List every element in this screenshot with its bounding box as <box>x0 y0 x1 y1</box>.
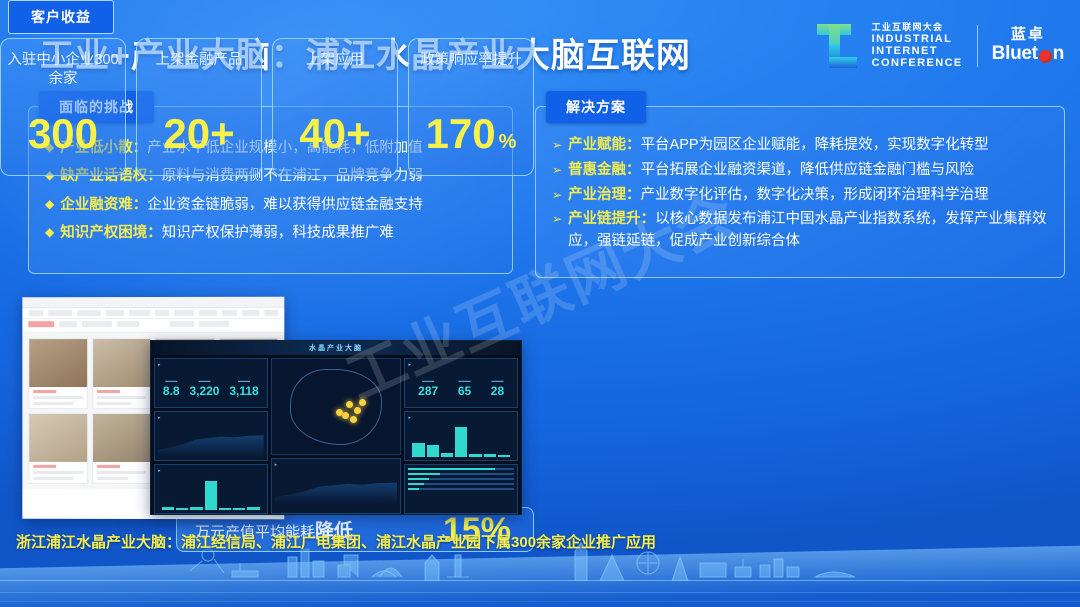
solution-item: ➢产业链提升：以核心数据发布浦江中国水晶产业指数系统，发挥产业集群效应，强链延链… <box>552 209 1048 253</box>
dashboard-kpi: ▬▬▬3,220 <box>189 378 219 397</box>
dashboard-kpi: ▬▬▬287 <box>418 378 438 397</box>
ranking-row <box>408 473 514 475</box>
bluetron-en-post: n <box>1053 44 1064 65</box>
panel-caption: ▸ <box>158 468 264 474</box>
bluetron-red-dot-icon <box>1039 50 1052 63</box>
challenge-item-text: 企业融资难：企业资金链脆弱，难以获得供应链金融支持 <box>60 194 423 216</box>
ranking-row <box>408 478 514 480</box>
panel-caption: ▸ <box>408 415 514 421</box>
benefit-stat-value: 40+ <box>299 113 370 155</box>
solution-item: ➢产业赋能：平台APP为园区企业赋能，降耗提效，实现数字化转型 <box>552 135 1048 157</box>
benefit-stat-card: 上架金融产品20+ <box>136 38 262 176</box>
benefit-stat-value: 20+ <box>163 113 234 155</box>
solutions-list: ➢产业赋能：平台APP为园区企业赋能，降耗提效，实现数字化转型➢普惠金融：平台拓… <box>536 107 1064 266</box>
dashboard-kpi-value: 287 <box>418 385 438 397</box>
dashboard-kpi-caption: ▬▬▬ <box>229 378 258 383</box>
solution-item-key: 产业治理： <box>568 187 641 203</box>
bar-chart <box>158 476 264 510</box>
conference-name-cn: 工业互联网大会 <box>872 22 963 32</box>
dashboard-title: 水晶产业大脑 <box>309 343 363 353</box>
solution-item-desc: 平台拓展企业融资渠道，降低供应链金融门槛与风险 <box>641 162 975 178</box>
dashboard-ranking-panel <box>404 464 518 514</box>
dashboard-header: 水晶产业大脑 <box>151 341 521 355</box>
list-item <box>28 338 87 409</box>
benefit-stat-number: 20+ <box>163 113 234 155</box>
panel-caption: ▸ <box>158 362 264 368</box>
dashboard-kpi-caption: ▬▬▬ <box>458 378 471 383</box>
benefit-stat-label: 上架金融产品 <box>156 51 243 109</box>
bluetron-en-pre: Bluet <box>992 44 1038 65</box>
conference-name-en-3: CONFERENCE <box>872 57 963 69</box>
dashboard-body: ▸ ▬▬▬8.8▬▬▬3,220▬▬▬3,118 ▸ ▸ <box>151 355 521 515</box>
map-marker <box>354 407 361 414</box>
challenge-item-text: 知识产权困境：知识产权保护薄弱，科技成果推广难 <box>60 222 394 244</box>
conference-name-en-2: INTERNET <box>872 45 963 57</box>
benefit-stat-card: 政策响应率提升170% <box>408 38 534 176</box>
dashboard-left-column: ▸ ▬▬▬8.8▬▬▬3,220▬▬▬3,118 ▸ ▸ <box>154 358 268 514</box>
benefit-stat-label: 上架应用 <box>306 51 364 109</box>
product-thumbnail <box>93 414 150 462</box>
list-item <box>92 413 151 484</box>
dashboard-kpi-caption: ▬▬▬ <box>163 378 180 383</box>
mall-nav-bar <box>22 308 284 319</box>
logo-divider <box>977 25 978 67</box>
road-line <box>0 601 1080 602</box>
bullet-marker-icon: ➢ <box>552 135 562 156</box>
benefit-stat-number: 40+ <box>299 113 370 155</box>
solution-item-key: 产业赋能： <box>568 137 641 153</box>
solution-item: ➢普惠金融：平台拓展企业融资渠道，降低供应链金融门槛与风险 <box>552 160 1048 182</box>
dashboard-area-panel: ▸ <box>271 458 402 514</box>
solutions-panel: 解决方案 ➢产业赋能：平台APP为园区企业赋能，降耗提效，实现数字化转型➢普惠金… <box>535 106 1065 278</box>
bullet-marker-icon: ◆ <box>45 222 54 243</box>
benefits-stat-row: 入驻中小企业300余家300上架金融产品20+上架应用40+政策响应率提升170… <box>0 38 534 176</box>
mall-breadcrumb-bar <box>22 297 284 309</box>
bullet-marker-icon: ➢ <box>552 160 562 181</box>
dashboard-kpi-value: 28 <box>491 385 504 397</box>
dashboard-kpi: ▬▬▬8.8 <box>163 378 180 397</box>
product-thumbnail <box>29 414 86 462</box>
mall-filter-bar <box>22 319 284 333</box>
benefit-stat-card: 上架应用40+ <box>272 38 398 176</box>
solutions-tab-label: 解决方案 <box>546 91 646 123</box>
solution-item-desc: 平台APP为园区企业赋能，降耗提效，实现数字化转型 <box>641 137 989 153</box>
bluetron-name-en: Bluetn <box>992 44 1064 65</box>
ranking-row <box>408 483 514 485</box>
dashboard-kpi-value: 3,220 <box>189 385 219 397</box>
map-marker <box>336 409 343 416</box>
bar-chart <box>408 423 514 457</box>
dashboard-kpi-value: 8.8 <box>163 385 180 397</box>
solution-item-text: 产业治理：产业数字化评估，数字化决策，形成闭环治理科学治理 <box>568 185 989 207</box>
dashboard-kpi-value: 65 <box>458 385 471 397</box>
dashboard-bar-panel: ▸ <box>154 464 268 514</box>
dashboard-kpi: ▬▬▬3,118 <box>229 378 258 397</box>
solution-item-key: 产业链提升： <box>568 211 655 227</box>
dashboard-right-column: ▸ ▬▬▬287▬▬▬65▬▬▬28 ▸ <box>404 358 518 514</box>
dashboard-kpi-panel-right: ▸ ▬▬▬287▬▬▬65▬▬▬28 <box>404 358 518 408</box>
kpi-group-left: ▬▬▬8.8▬▬▬3,220▬▬▬3,118 <box>158 370 264 404</box>
challenge-item-desc: 知识产权保护薄弱，科技成果推广难 <box>162 225 394 241</box>
benefit-stat-number: 170 <box>426 113 496 155</box>
benefit-stat-label: 入驻中小企业300余家 <box>7 51 119 109</box>
challenge-item-key: 知识产权困境： <box>60 225 162 241</box>
dashboard-kpi-value: 3,118 <box>229 385 258 397</box>
product-thumbnail <box>93 339 150 387</box>
bluetron-logo: 蓝卓 Bluetn <box>992 27 1064 64</box>
screenshot-caption: 浙江浦江水晶产业大脑：浦江经信局、浦江广电集团、浦江水晶产业园下属300余家企业… <box>16 531 656 552</box>
solution-item-text: 产业链提升：以核心数据发布浦江中国水晶产业指数系统，发挥产业集群效应，强链延链，… <box>568 209 1048 253</box>
conference-name-en-1: INDUSTRIAL <box>872 33 963 45</box>
dashboard-center-column: ▸ <box>271 358 402 514</box>
bullet-marker-icon: ➢ <box>552 185 562 206</box>
solution-item-desc: 产业数字化评估，数字化决策，形成闭环治理科学治理 <box>641 187 989 203</box>
benefit-stat-number: 300 <box>28 113 98 155</box>
dashboard-kpi: ▬▬▬65 <box>458 378 471 397</box>
area-chart <box>275 470 398 504</box>
challenge-item: ◆知识产权困境：知识产权保护薄弱，科技成果推广难 <box>45 222 496 244</box>
dashboard-trend-panel: ▸ <box>154 411 268 461</box>
dashboard-kpi-caption: ▬▬▬ <box>418 378 438 383</box>
road-line <box>0 592 1080 593</box>
list-item <box>92 338 151 409</box>
logo-group: 工业互联网大会 INDUSTRIAL INTERNET CONFERENCE 蓝… <box>817 22 1064 70</box>
solution-item: ➢产业治理：产业数字化评估，数字化决策，形成闭环治理科学治理 <box>552 185 1048 207</box>
panel-caption: ▸ <box>275 462 398 468</box>
product-thumbnail <box>29 339 86 387</box>
solution-item-key: 普惠金融： <box>568 162 641 178</box>
list-item <box>28 413 87 484</box>
benefits-tab-label: 客户收益 <box>8 0 114 34</box>
ranking-row <box>408 468 514 470</box>
benefit-stat-value: 300 <box>28 113 98 155</box>
ranking-row <box>408 488 514 490</box>
bullet-marker-icon: ➢ <box>552 209 562 230</box>
conference-logo: 工业互联网大会 INDUSTRIAL INTERNET CONFERENCE <box>817 22 963 70</box>
benefit-stat-card: 入驻中小企业300余家300 <box>0 38 126 176</box>
dashboard-bar-panel-right: ▸ <box>404 411 518 461</box>
challenge-item: ◆企业融资难：企业资金链脆弱，难以获得供应链金融支持 <box>45 194 496 216</box>
challenge-item-key: 企业融资难： <box>60 197 147 213</box>
t-shape-logo-icon <box>817 22 863 70</box>
bullet-marker-icon: ◆ <box>45 194 54 215</box>
benefit-stat-value: 170% <box>426 113 517 155</box>
solution-item-text: 普惠金融：平台拓展企业融资渠道，降低供应链金融门槛与风险 <box>568 160 974 182</box>
kpi-group-right: ▬▬▬287▬▬▬65▬▬▬28 <box>408 370 514 404</box>
benefit-stat-unit: % <box>499 132 517 152</box>
benefit-stat-label: 政策响应率提升 <box>420 51 522 109</box>
panel-caption: ▸ <box>158 415 264 421</box>
dashboard-kpi: ▬▬▬28 <box>491 378 504 397</box>
china-map-chart <box>271 358 402 455</box>
dashboard-kpi-caption: ▬▬▬ <box>189 378 219 383</box>
bluetron-name-cn: 蓝卓 <box>992 27 1064 44</box>
industry-brain-dashboard-screenshot: 水晶产业大脑 ▸ ▬▬▬8.8▬▬▬3,220▬▬▬3,118 ▸ ▸ <box>150 340 522 515</box>
challenge-item-desc: 企业资金链脆弱，难以获得供应链金融支持 <box>147 197 423 213</box>
dashboard-kpi-caption: ▬▬▬ <box>491 378 504 383</box>
panel-caption: ▸ <box>408 362 514 368</box>
china-map-outline <box>290 369 383 445</box>
line-chart <box>158 423 264 457</box>
solution-item-text: 产业赋能：平台APP为园区企业赋能，降耗提效，实现数字化转型 <box>568 135 989 157</box>
dashboard-kpi-panel: ▸ ▬▬▬8.8▬▬▬3,220▬▬▬3,118 <box>154 358 268 408</box>
